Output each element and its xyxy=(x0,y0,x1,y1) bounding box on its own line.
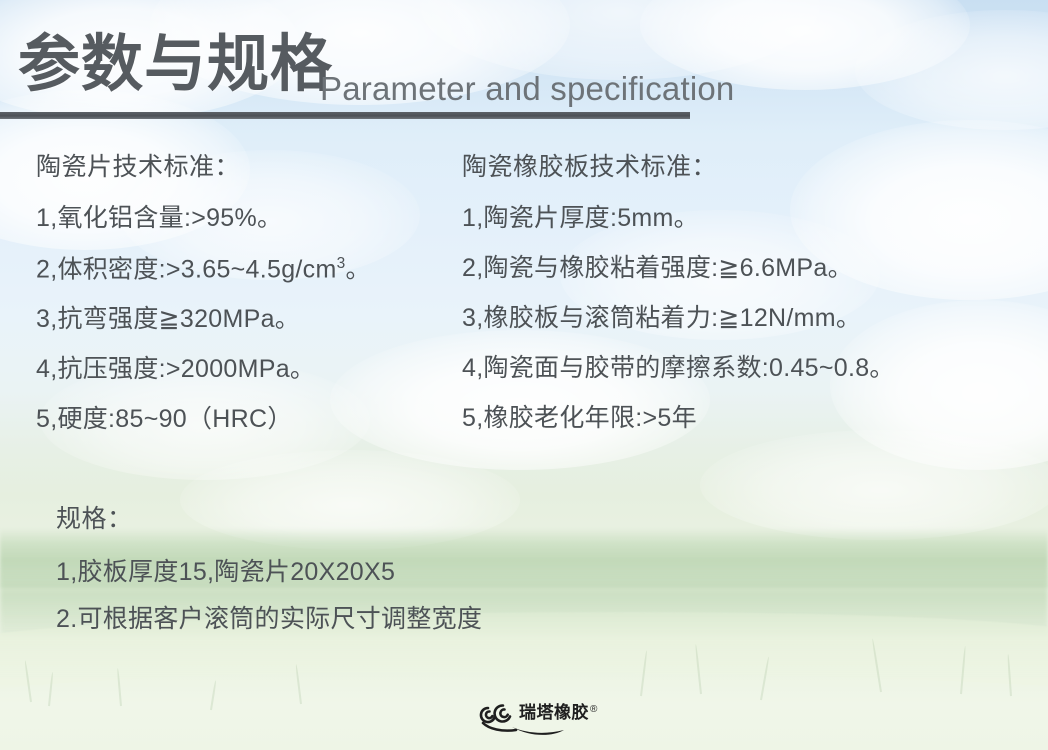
ceramic-rubber-board-item-5: 5,橡胶老化年限:>5年 xyxy=(462,406,895,431)
ceramic-sheet-item-2-superscript: 3 xyxy=(337,255,346,272)
logo-wordmark: 瑞塔橡胶 xyxy=(519,702,589,723)
cloud-tail-shape xyxy=(512,727,564,735)
page-title: 参数与规格 xyxy=(18,34,333,96)
header-divider xyxy=(0,112,690,119)
specification-heading: 规格： xyxy=(56,507,482,532)
ceramic-rubber-board-item-2: 2,陶瓷与橡胶粘着强度:≧6.6MPa。 xyxy=(462,256,895,281)
ceramic-sheet-item-5: 5,硬度:85~90（HRC） xyxy=(36,407,371,432)
specification-item-2: 2.可根据客户滚筒的实际尺寸调整宽度 xyxy=(56,607,482,632)
page-subtitle: Parameter and specification xyxy=(320,72,734,105)
specification-item-1: 1,胶板厚度15,陶瓷片20X20X5 xyxy=(56,560,482,585)
ceramic-rubber-board-item-3: 3,橡胶板与滚筒粘着力:≧12N/mm。 xyxy=(462,306,895,331)
ceramic-sheet-item-2-text: 2,体积密度:>3.65~4.5g/cm xyxy=(36,255,337,283)
ceramic-sheet-item-3: 3,抗弯强度≧320MPa。 xyxy=(36,307,371,332)
registered-trademark-icon: ® xyxy=(590,704,598,715)
page-header: 参数与规格 Parameter and specification xyxy=(0,0,1048,124)
ceramic-sheet-item-2: 2,体积密度:>3.65~4.5g/cm3。 xyxy=(36,256,371,282)
ceramic-rubber-board-item-1: 1,陶瓷片厚度:5mm。 xyxy=(462,206,895,231)
company-logo: 瑞塔橡胶 ® xyxy=(472,692,607,740)
ceramic-sheet-item-2-tail: 。 xyxy=(346,255,371,283)
ceramic-sheet-heading: 陶瓷片技术标准： xyxy=(36,155,371,180)
rutai-cloud-mark-icon: 瑞塔橡胶 ® xyxy=(472,692,607,740)
specification-block: 规格： 1,胶板厚度15,陶瓷片20X20X5 2.可根据客户滚筒的实际尺寸调整… xyxy=(56,507,482,654)
ceramic-sheet-item-1: 1,氧化铝含量:>95%。 xyxy=(36,206,371,231)
ceramic-rubber-board-column: 陶瓷橡胶板技术标准： 1,陶瓷片厚度:5mm。 2,陶瓷与橡胶粘着强度:≧6.6… xyxy=(462,155,895,456)
slide-canvas: 参数与规格 Parameter and specification 陶瓷片技术标… xyxy=(0,0,1048,750)
ceramic-rubber-board-heading: 陶瓷橡胶板技术标准： xyxy=(462,155,895,180)
ceramic-sheet-item-4: 4,抗压强度:>2000MPa。 xyxy=(36,357,371,382)
ceramic-rubber-board-item-4: 4,陶瓷面与胶带的摩擦系数:0.45~0.8。 xyxy=(462,356,895,381)
ceramic-sheet-column: 陶瓷片技术标准： 1,氧化铝含量:>95%。 2,体积密度:>3.65~4.5g… xyxy=(36,155,371,457)
